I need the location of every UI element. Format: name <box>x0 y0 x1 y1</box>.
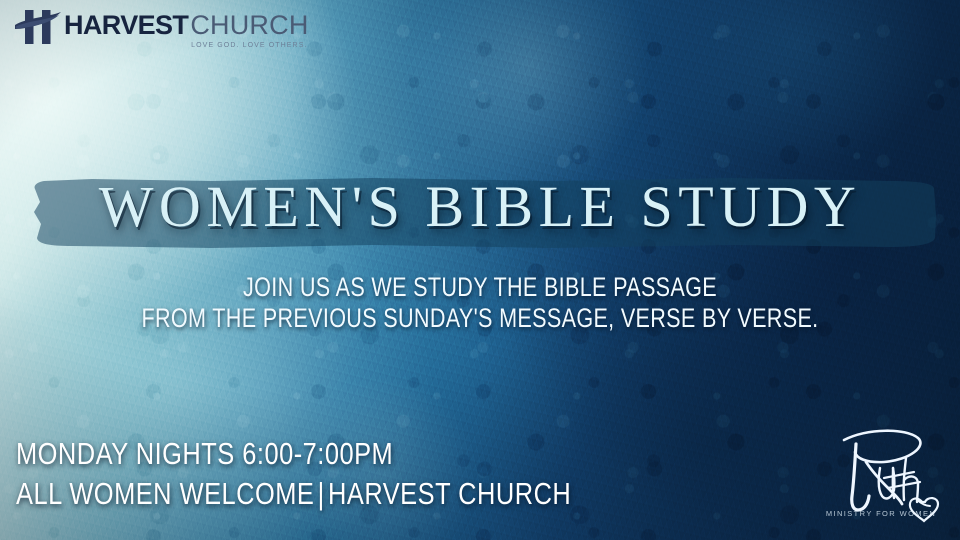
harvest-church-wordmark: HARVEST CHURCH LOVE GOD. LOVE OTHERS. <box>64 6 309 49</box>
page-title: WOMEN'S BIBLE STUDY <box>0 178 960 236</box>
subtitle-line-1: JOIN US AS WE STUDY THE BIBLE PASSAGE <box>96 272 864 303</box>
subtitle-line-2: FROM THE PREVIOUS SUNDAY'S MESSAGE, VERS… <box>96 303 864 334</box>
logo-tagline: LOVE GOD. LOVE OTHERS. <box>64 42 309 49</box>
event-audience: ALL WOMEN WELCOME <box>16 476 314 511</box>
event-details: MONDAY NIGHTS 6:00-7:00PM ALL WOMEN WELC… <box>16 434 571 514</box>
event-location: HARVEST CHURCH <box>328 476 571 511</box>
wordmark-church: CHURCH <box>190 12 308 39</box>
harvest-church-logo: HARVEST CHURCH LOVE GOD. LOVE OTHERS. <box>14 6 309 49</box>
ministry-caption: MINISTRY FOR WOMEN <box>822 509 940 518</box>
details-separator: | <box>314 476 328 511</box>
cross-swoosh-icon <box>14 6 62 48</box>
wordmark-harvest: HARVEST <box>64 12 188 39</box>
subtitle-block: JOIN US AS WE STUDY THE BIBLE PASSAGE FR… <box>96 272 864 334</box>
womens-bible-study-poster: HARVEST CHURCH LOVE GOD. LOVE OTHERS. WO… <box>0 0 960 540</box>
event-audience-location: ALL WOMEN WELCOME|HARVEST CHURCH <box>16 474 571 514</box>
wordmark-row: HARVEST CHURCH <box>64 12 309 39</box>
ruth-ministry-logo: MINISTRY FOR WOMEN <box>822 422 946 526</box>
event-time: MONDAY NIGHTS 6:00-7:00PM <box>16 434 571 474</box>
